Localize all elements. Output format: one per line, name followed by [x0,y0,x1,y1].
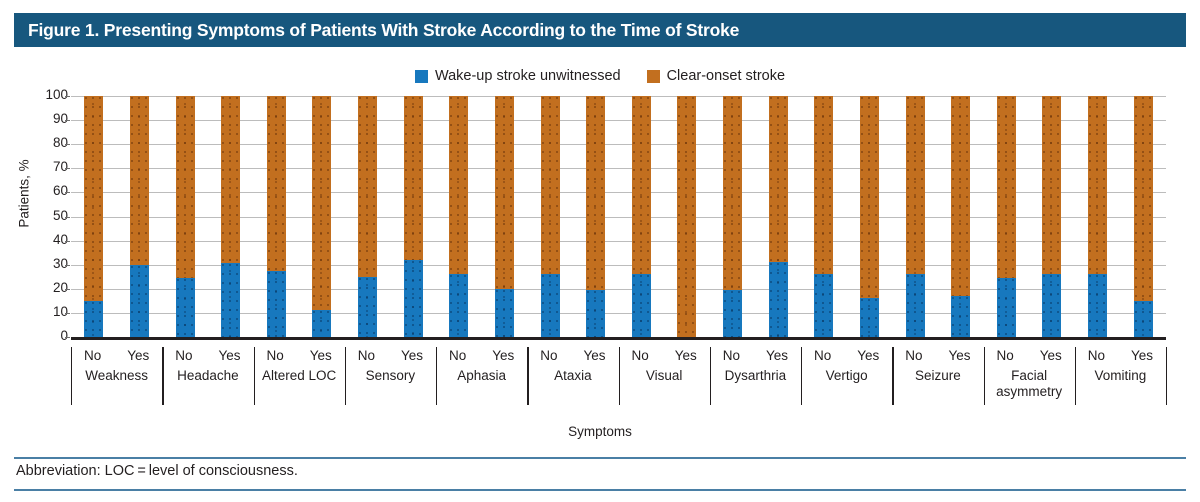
level-label-yes: Yes [492,348,514,363]
stacked-bar [769,96,788,337]
level-label-yes: Yes [675,348,697,363]
stacked-bar [1088,96,1107,337]
bar-segment-clear-onset [1088,96,1107,274]
level-label-yes: Yes [766,348,788,363]
y-tick-mark [65,241,70,242]
category-band: NoYesAphasia [436,344,527,410]
y-tick-label: 10 [8,305,68,319]
bar-segment-wakeup [1134,301,1153,337]
stacked-bar [267,96,286,337]
y-tick-mark [65,313,70,314]
category-band: NoYesAltered LOC [254,344,345,410]
level-label-no: No [449,348,466,363]
y-tick-mark [65,144,70,145]
footnote-rule-bottom [14,489,1186,491]
category-name: Seizure [892,363,983,384]
category-divider [1166,347,1167,405]
bar-segment-clear-onset [951,96,970,296]
level-label-no: No [631,348,648,363]
level-label-no: No [1088,348,1105,363]
bar-segment-wakeup [541,274,560,337]
bar-segment-wakeup [769,262,788,337]
level-label-no: No [905,348,922,363]
level-label-no: No [723,348,740,363]
bar-segment-wakeup [1042,274,1061,337]
bar-segment-clear-onset [312,96,331,310]
bar-segment-clear-onset [221,96,240,263]
category-band: NoYesVertigo [801,344,892,410]
stacked-bar [860,96,879,337]
level-label-yes: Yes [218,348,240,363]
bar-segment-clear-onset [176,96,195,278]
category-name: Vomiting [1075,363,1166,384]
y-tick-label: 0 [8,329,68,343]
stacked-bar [906,96,925,337]
bar-segment-clear-onset [997,96,1016,278]
stacked-bar [997,96,1016,337]
bar-segment-wakeup [221,263,240,337]
category-name: Weakness [71,363,162,384]
stacked-bar [176,96,195,337]
x-axis-baseline [71,337,1166,340]
level-label-yes: Yes [401,348,423,363]
level-label-yes: Yes [857,348,879,363]
level-label-no: No [540,348,557,363]
bar-segment-wakeup [906,274,925,337]
bar-segment-wakeup [404,260,423,337]
bar-segment-wakeup [632,274,651,337]
category-levels: NoYes [345,344,436,363]
bar-segment-wakeup [84,301,103,337]
stacked-bar [130,96,149,337]
category-name: Headache [162,363,253,384]
y-tick-label: 40 [8,233,68,247]
stacked-bar [541,96,560,337]
bar-segment-wakeup [130,265,149,337]
level-label-yes: Yes [948,348,970,363]
level-label-yes: Yes [1131,348,1153,363]
bar-segment-clear-onset [358,96,377,277]
level-label-no: No [84,348,101,363]
stacked-bar [951,96,970,337]
category-name: Dysarthria [710,363,801,384]
category-name: Altered LOC [254,363,345,384]
level-label-no: No [814,348,831,363]
stacked-bar [814,96,833,337]
bar-segment-clear-onset [906,96,925,274]
category-band: NoYesDysarthria [710,344,801,410]
category-band: NoYesSeizure [892,344,983,410]
category-levels: NoYes [801,344,892,363]
bar-segment-wakeup [312,310,331,337]
bar-segment-clear-onset [586,96,605,290]
category-band: NoYesVomiting [1075,344,1166,410]
category-name: Ataxia [527,363,618,384]
category-levels: NoYes [71,344,162,363]
bar-segment-wakeup [449,274,468,337]
category-band: NoYesHeadache [162,344,253,410]
y-tick-label: 80 [8,136,68,150]
bar-segment-clear-onset [769,96,788,262]
category-levels: NoYes [527,344,618,363]
bar-segment-clear-onset [814,96,833,274]
category-levels: NoYes [254,344,345,363]
stacked-bar [449,96,468,337]
bar-segment-clear-onset [723,96,742,290]
footnote-text: Abbreviation: LOC = level of consciousne… [16,463,298,479]
y-tick-mark [65,265,70,266]
category-levels: NoYes [162,344,253,363]
y-tick-mark [65,96,70,97]
stacked-bar [358,96,377,337]
bar-segment-wakeup [1088,274,1107,337]
bar-segment-wakeup [860,298,879,337]
y-tick-mark [65,192,70,193]
x-axis-title: Symptoms [0,424,1200,439]
category-name: Facial asymmetry [984,363,1075,401]
bar-segment-clear-onset [449,96,468,274]
stacked-bar [404,96,423,337]
footnote-rule-top [14,457,1186,459]
bar-segment-clear-onset [677,96,696,337]
y-tick-mark [65,217,70,218]
stacked-bar [586,96,605,337]
y-tick-mark [65,337,70,338]
category-band: NoYesWeakness [71,344,162,410]
bar-segment-clear-onset [1134,96,1153,301]
category-band: NoYesAtaxia [527,344,618,410]
stacked-bar [723,96,742,337]
y-tick-mark [65,168,70,169]
bar-segment-clear-onset [404,96,423,260]
bar-segment-wakeup [267,271,286,337]
level-label-yes: Yes [310,348,332,363]
stacked-bar [495,96,514,337]
category-name: Vertigo [801,363,892,384]
bar-segment-clear-onset [632,96,651,274]
category-band: NoYesFacial asymmetry [984,344,1075,410]
level-label-no: No [175,348,192,363]
bar-segment-wakeup [495,289,514,337]
bar-segment-wakeup [176,278,195,337]
y-tick-label: 20 [8,281,68,295]
bar-segment-wakeup [951,296,970,337]
category-band: NoYesVisual [619,344,710,410]
category-levels: NoYes [892,344,983,363]
y-tick-label: 50 [8,209,68,223]
bar-segment-clear-onset [495,96,514,289]
stacked-bar [221,96,240,337]
bar-segment-clear-onset [1042,96,1061,274]
bar-segment-wakeup [723,290,742,337]
bar-segment-clear-onset [267,96,286,271]
bar-segment-clear-onset [130,96,149,265]
category-name: Visual [619,363,710,384]
level-label-no: No [358,348,375,363]
chart-plot-wrapper: Patients, % 0102030405060708090100 NoYes… [0,0,1200,502]
y-tick-label: 30 [8,257,68,271]
category-name: Aphasia [436,363,527,384]
y-tick-label: 60 [8,184,68,198]
bar-segment-wakeup [814,274,833,337]
level-label-no: No [996,348,1013,363]
stacked-bar [312,96,331,337]
category-name: Sensory [345,363,436,384]
stacked-bar [1042,96,1061,337]
stacked-bar [84,96,103,337]
y-tick-label: 70 [8,160,68,174]
level-label-yes: Yes [1040,348,1062,363]
category-levels: NoYes [436,344,527,363]
y-tick-label: 90 [8,112,68,126]
bar-segment-wakeup [586,290,605,337]
level-label-no: No [266,348,283,363]
level-label-yes: Yes [583,348,605,363]
category-band: NoYesSensory [345,344,436,410]
level-label-yes: Yes [127,348,149,363]
stacked-bar [1134,96,1153,337]
y-tick-mark [65,120,70,121]
y-tick-mark [65,289,70,290]
bar-segment-wakeup [358,277,377,337]
bar-segment-wakeup [997,278,1016,337]
category-levels: NoYes [1075,344,1166,363]
bar-segment-clear-onset [541,96,560,274]
y-tick-label: 100 [8,88,68,102]
stacked-bar [677,96,696,337]
stacked-bar [632,96,651,337]
bar-segment-clear-onset [860,96,879,298]
category-levels: NoYes [619,344,710,363]
category-levels: NoYes [984,344,1075,363]
plot-area [71,96,1166,337]
category-levels: NoYes [710,344,801,363]
bar-segment-clear-onset [84,96,103,301]
